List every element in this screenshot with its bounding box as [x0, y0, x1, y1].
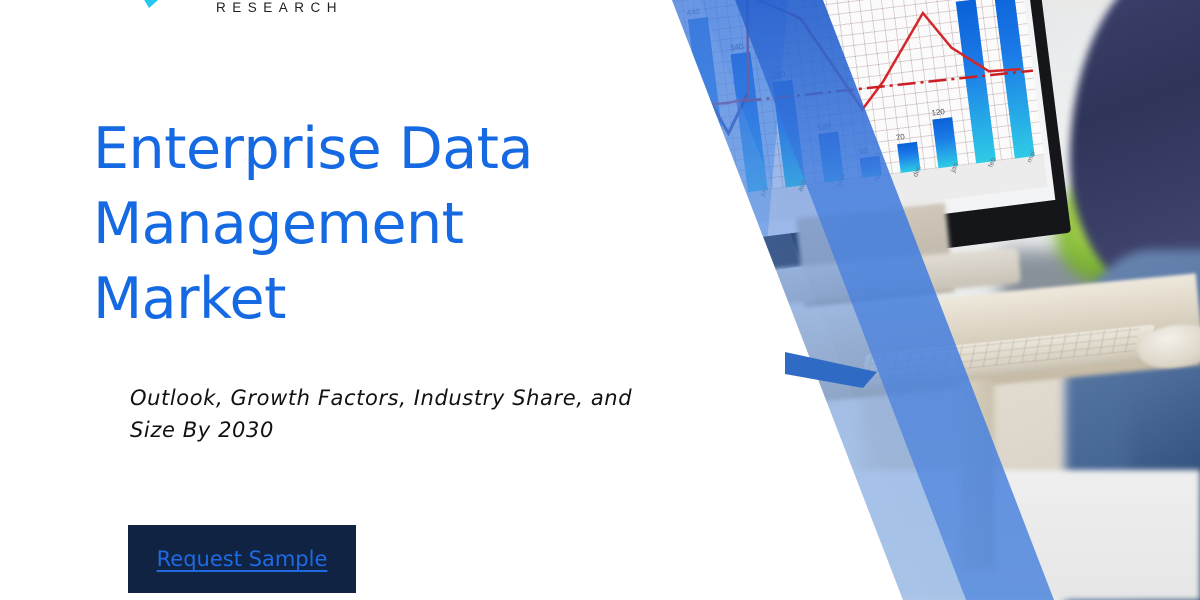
brand-wordmark: RESEARCH — [216, 0, 343, 15]
market-report-banner: 4403402601205070120400 mayjunejulyaugsep… — [0, 0, 1200, 600]
request-sample-label: Request Sample — [157, 547, 328, 571]
brand-logo[interactable]: RESEARCH — [0, 0, 400, 24]
page-title: Enterprise Data Management Market — [93, 112, 653, 337]
chart-x-tick: feb — [988, 157, 998, 169]
chart-bar-value: 70 — [895, 133, 905, 143]
chart-x-tick: june — [721, 187, 732, 202]
triangle-arrow-icon — [129, 0, 185, 22]
page-subtitle: Outlook, Growth Factors, Industry Share,… — [130, 382, 675, 446]
chart-bar-value: 120 — [931, 107, 945, 118]
chart-x-tick: may — [683, 192, 694, 207]
chart-x-tick: jan — [950, 162, 960, 173]
request-sample-button[interactable]: Request Sample — [128, 525, 356, 593]
